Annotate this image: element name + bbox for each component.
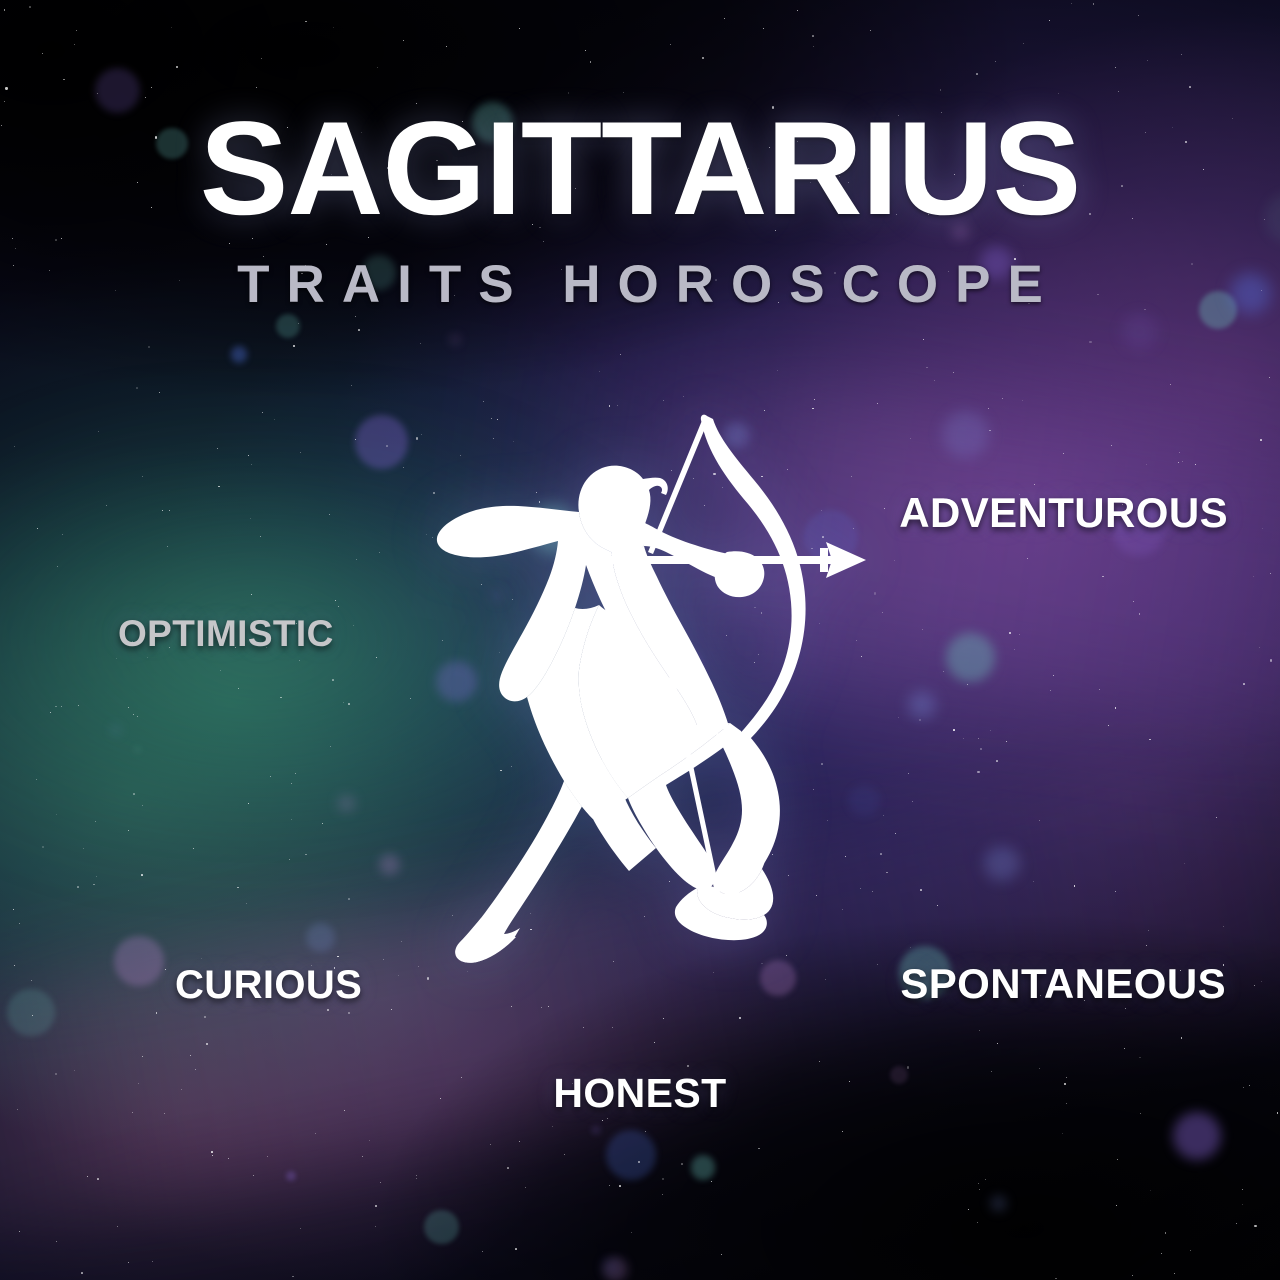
trait-label-optimistic: OPTIMISTIC xyxy=(118,615,334,652)
trait-label-spontaneous: SPONTANEOUS xyxy=(900,963,1226,1005)
page-subtitle: TRAITS HOROSCOPE xyxy=(0,258,1280,311)
horoscope-poster: SAGITTARIUS TRAITS HOROSCOPE ADVENTUROUS… xyxy=(0,0,1280,1280)
trait-label-adventurous: ADVENTUROUS xyxy=(899,492,1228,534)
trait-label-curious: CURIOUS xyxy=(175,965,362,1005)
sagittarius-archer-silhouette xyxy=(430,400,890,1020)
trait-label-honest: HONEST xyxy=(0,1073,1280,1114)
page-title: SAGITTARIUS xyxy=(0,103,1280,236)
